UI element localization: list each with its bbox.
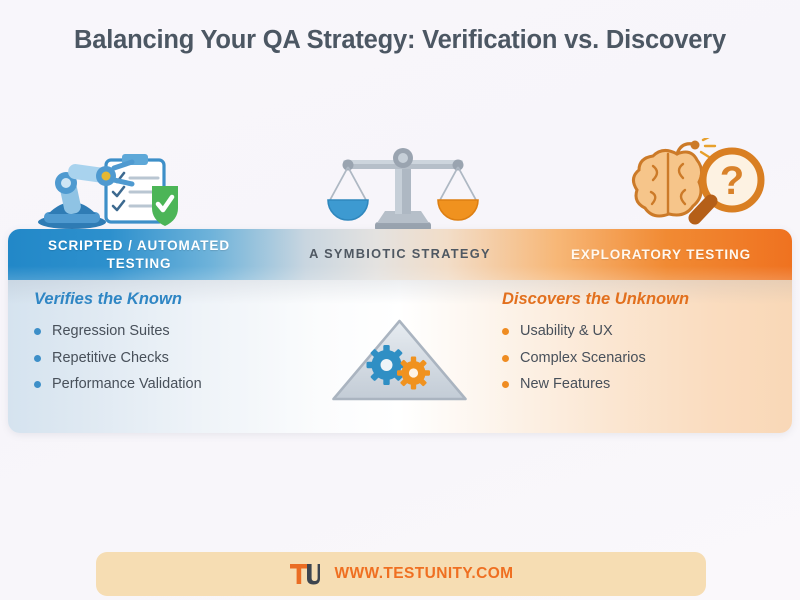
list-item-label: New Features [520,376,610,393]
bullet-dot-icon [34,328,41,335]
list-item: Complex Scenarios [502,350,782,367]
column-left-heading: Verifies the Known [34,290,314,309]
list-item-label: Repetitive Checks [52,350,169,367]
column-right-heading: Discovers the Unknown [502,290,782,309]
strategy-card: SCRIPTED / AUTOMATED TESTING A SYMBIOTIC… [8,229,792,433]
bullet-dot-icon [502,328,509,335]
balance-scale-icon [315,138,490,234]
list-item: Usability & UX [502,323,782,340]
bullet-dot-icon [34,355,41,362]
column-discovery: Discovers the Unknown Usability & UX Com… [502,290,782,403]
banner-label-scripted: SCRIPTED / AUTOMATED TESTING [24,229,254,280]
list-item-label: Performance Validation [52,376,202,393]
list-item: Performance Validation [34,376,314,393]
testunity-logo-icon [288,561,322,587]
svg-text:?: ? [720,159,744,203]
page-title: Balancing Your QA Strategy: Verification… [0,26,800,55]
list-item: New Features [502,376,782,393]
bullet-dot-icon [502,381,509,388]
column-right-list: Usability & UX Complex Scenarios New Fea… [502,323,782,393]
banner-label-symbiotic: A SYMBIOTIC STRATEGY [309,229,491,280]
bullet-dot-icon [34,381,41,388]
column-verification: Verifies the Known Regression Suites Rep… [34,290,314,403]
list-item-label: Regression Suites [52,323,170,340]
footer-website-label[interactable]: WWW.TESTUNITY.COM [334,565,513,583]
banner-label-exploratory: EXPLORATORY TESTING [546,229,776,280]
list-item: Regression Suites [34,323,314,340]
triangle-gears-fulcrum [313,315,488,407]
list-item: Repetitive Checks [34,350,314,367]
bullet-dot-icon [502,355,509,362]
banner-strip: SCRIPTED / AUTOMATED TESTING A SYMBIOTIC… [8,229,792,280]
robot-arm-checklist-shield-icon [22,138,192,234]
list-item-label: Usability & UX [520,323,613,340]
footer-bar: WWW.TESTUNITY.COM [96,552,706,596]
icon-row: ? [0,138,800,234]
brain-magnifier-question-icon: ? [614,138,784,234]
column-left-list: Regression Suites Repetitive Checks Perf… [34,323,314,393]
card-body: Verifies the Known Regression Suites Rep… [8,280,792,433]
list-item-label: Complex Scenarios [520,350,646,367]
